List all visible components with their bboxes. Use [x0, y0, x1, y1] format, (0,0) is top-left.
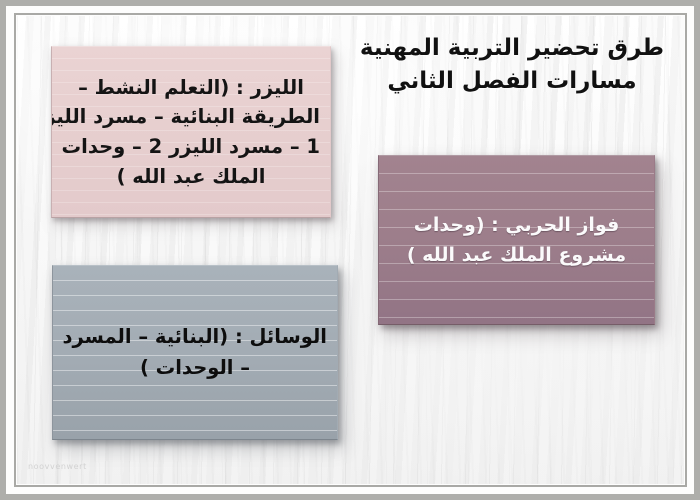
card-text-line: 1 – مسرد الليزر 2 – وحدات	[62, 132, 320, 162]
card-text-line: الطريقة البنائية – مسرد الليزر	[62, 102, 320, 132]
page-title-line-1: طرق تحضير التربية المهنية	[352, 32, 672, 65]
card-text-line: مشروع الملك عبد الله )	[389, 240, 644, 270]
laser-methods-card-text: الليزر : (التعلم النشط – الطريقة البنائي…	[52, 73, 330, 192]
screenshot-canvas: طرق تحضير التربية المهنية مسارات الفصل ا…	[0, 0, 700, 500]
card-text-line: الملك عبد الله )	[62, 162, 320, 192]
card-text-line: – الوحدات )	[63, 353, 327, 383]
watermark: noovvenwert	[28, 462, 87, 471]
fawaz-alharbi-card-text: فواز الحربي : (وحدات مشروع الملك عبد الل…	[379, 210, 654, 270]
card-text-line: فواز الحربي : (وحدات	[389, 210, 644, 240]
card-text-line: الليزر : (التعلم النشط –	[62, 73, 320, 103]
laser-methods-card[interactable]: الليزر : (التعلم النشط – الطريقة البنائي…	[51, 46, 331, 218]
card-text-line: الوسائل : (البنائية – المسرد	[63, 322, 327, 352]
fawaz-alharbi-card[interactable]: فواز الحربي : (وحدات مشروع الملك عبد الل…	[378, 155, 655, 325]
page-title: طرق تحضير التربية المهنية مسارات الفصل ا…	[352, 32, 672, 97]
page-title-line-2: مسارات الفصل الثاني	[352, 65, 672, 98]
resources-card[interactable]: الوسائل : (البنائية – المسرد – الوحدات )	[52, 265, 338, 440]
resources-card-text: الوسائل : (البنائية – المسرد – الوحدات )	[53, 322, 337, 382]
